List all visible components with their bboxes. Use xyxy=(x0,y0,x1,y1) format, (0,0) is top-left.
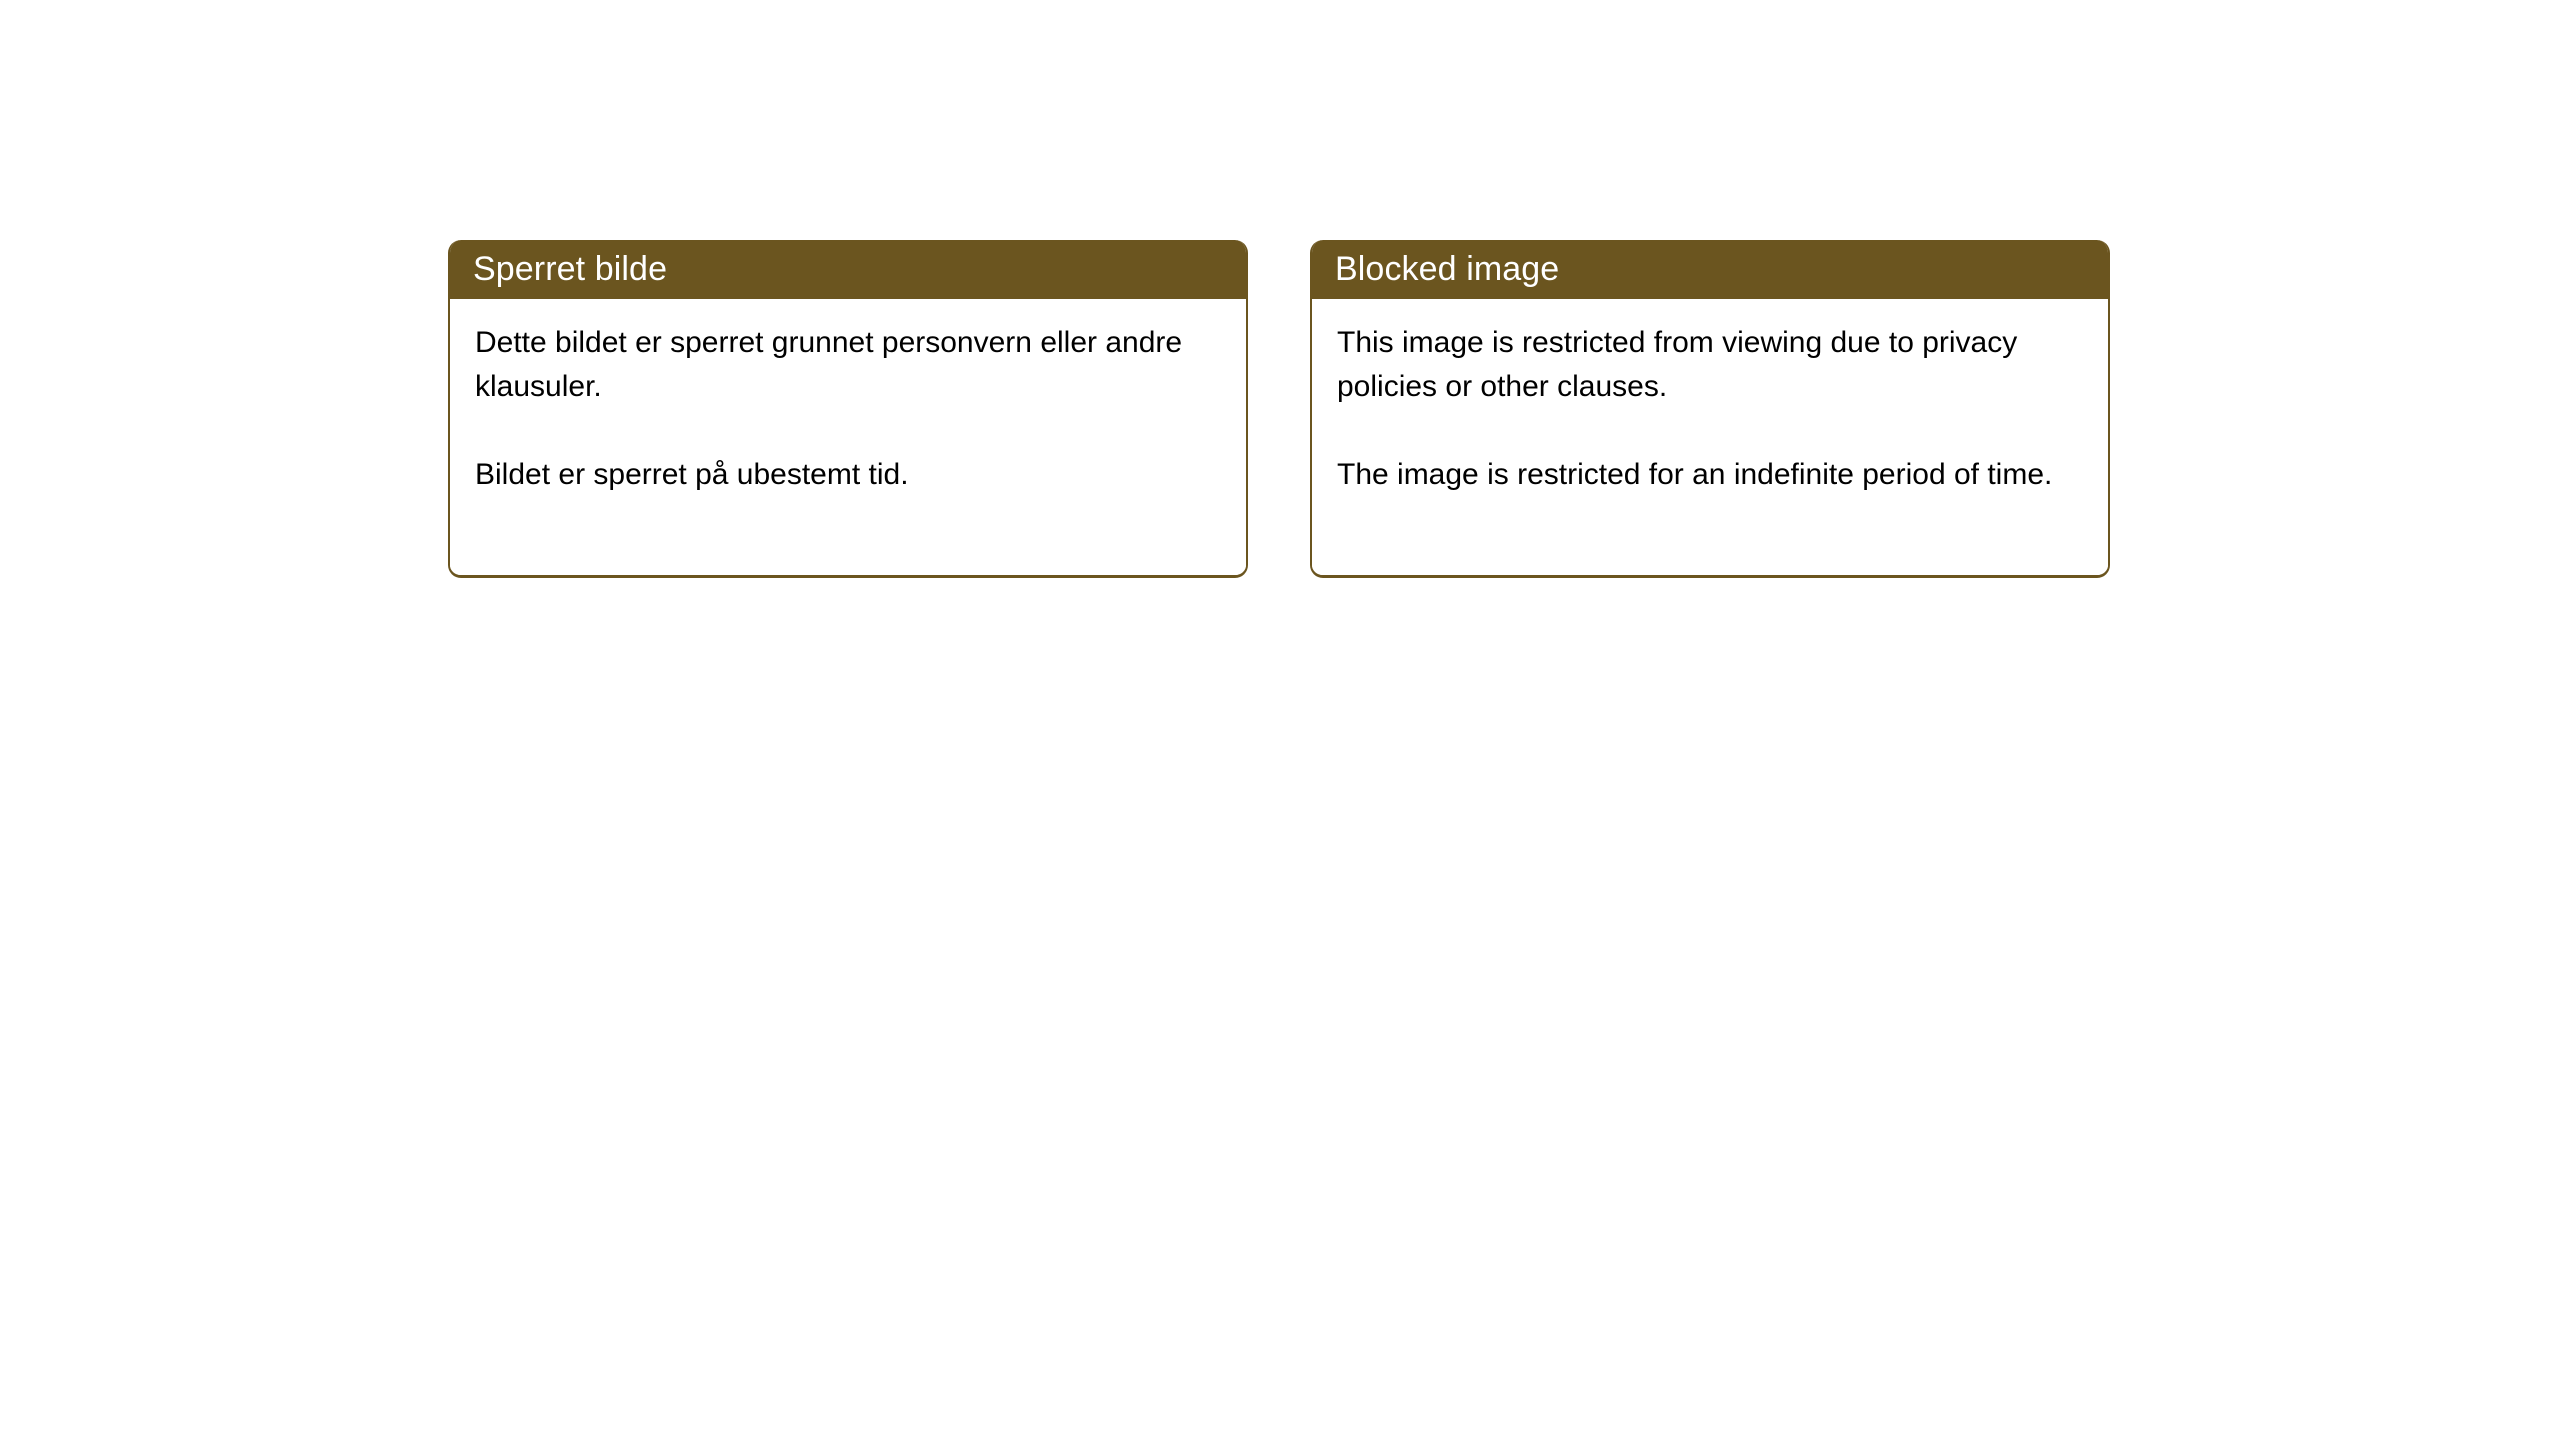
card-body-english: This image is restricted from viewing du… xyxy=(1312,299,2108,575)
card-paragraph-norwegian-2: Bildet er sperret på ubestemt tid. xyxy=(475,453,1222,497)
card-header-english: Blocked image xyxy=(1310,240,2110,299)
card-title-norwegian: Sperret bilde xyxy=(473,249,667,289)
card-paragraph-english-1: This image is restricted from viewing du… xyxy=(1337,321,2084,409)
card-paragraph-norwegian-1: Dette bildet er sperret grunnet personve… xyxy=(475,321,1222,409)
paragraph-spacer xyxy=(1337,409,2084,453)
blocked-image-card-english: Blocked image This image is restricted f… xyxy=(1310,240,2110,578)
blocked-image-card-norwegian: Sperret bilde Dette bildet er sperret gr… xyxy=(448,240,1248,578)
card-body-norwegian: Dette bildet er sperret grunnet personve… xyxy=(450,299,1246,575)
blocked-image-notices: Sperret bilde Dette bildet er sperret gr… xyxy=(448,240,2110,578)
paragraph-spacer xyxy=(475,409,1222,453)
card-header-norwegian: Sperret bilde xyxy=(448,240,1248,299)
card-title-english: Blocked image xyxy=(1335,249,1559,289)
card-paragraph-english-2: The image is restricted for an indefinit… xyxy=(1337,453,2084,497)
